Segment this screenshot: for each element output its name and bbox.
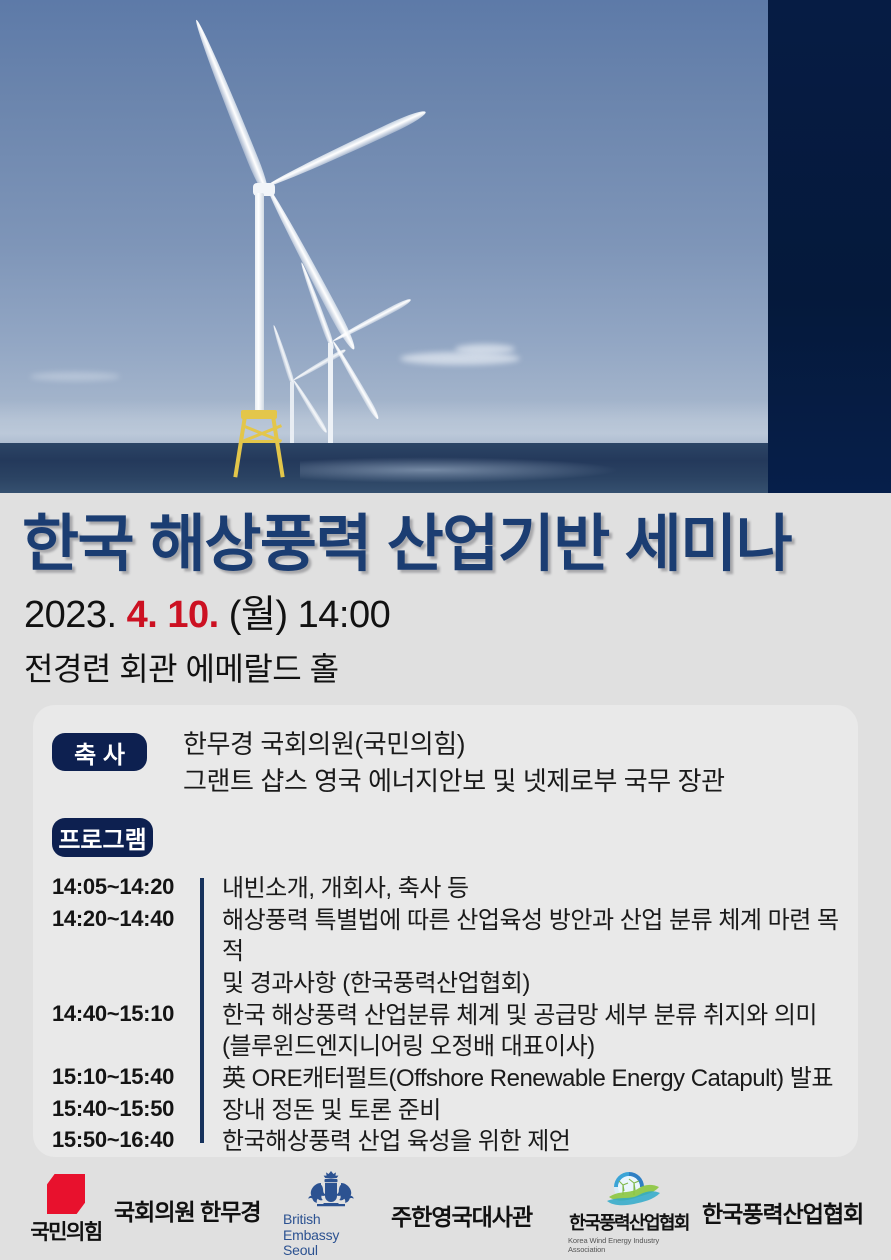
schedule-row: 15:10~15:40 英 ORE캐터펄트(Offshore Renewable… xyxy=(52,1063,852,1095)
greeting-list: 한무경 국회의원(국민의힘) 그랜트 샵스 영국 에너지안보 및 넷제로부 국무… xyxy=(183,726,863,800)
wind-turbine-main-icon xyxy=(255,18,525,458)
schedule-row: 14:40~15:10 한국 해상풍력 산업분류 체계 및 공급망 세부 분류 … xyxy=(52,1000,852,1063)
schedule-desc: 한국 해상풍력 산업분류 체계 및 공급망 세부 분류 취지와 의미 (블루윈드… xyxy=(222,1000,852,1063)
poster-root: 한국 해상풍력 산업기반 세미나 2023. 4. 10. (월) 14:00 … xyxy=(0,0,891,1260)
row-gutter xyxy=(200,873,222,905)
logo-label-kweia: 한국풍력산업협회 xyxy=(702,1195,863,1229)
kweia-logo-label-ko: 한국풍력산업협회 xyxy=(569,1209,689,1235)
schedule-desc-sub: (블루윈드엔지니어링 오정배 대표이사) xyxy=(222,1031,852,1063)
page-title: 한국 해상풍력 산업기반 세미나 xyxy=(0,493,891,577)
cloud-3 xyxy=(30,372,120,381)
row-gutter xyxy=(200,1126,222,1158)
logo-label-assembly-member: 국회의원 한무경 xyxy=(114,1193,261,1227)
program-schedule: 14:05~14:20 내빈소개, 개회사, 축사 등 14:20~14:40 … xyxy=(52,873,852,1158)
kweia-logo-label-en: Korea Wind Energy Industry Association xyxy=(568,1236,690,1254)
hero-photo xyxy=(0,0,891,493)
schedule-desc-main: 내빈소개, 개회사, 축사 등 xyxy=(222,875,469,902)
schedule-desc-main: 한국해상풍력 산업 육성을 위한 제언 xyxy=(222,1128,570,1155)
schedule-time: 15:10~15:40 xyxy=(52,1063,200,1092)
logo-group-kweia: 한국풍력산업협회 Korea Wind Energy Industry Asso… xyxy=(568,1170,863,1254)
logo-group-embassy: British Embassy Seoul 주한영국대사관 xyxy=(283,1170,532,1259)
embassy-logo-label: British Embassy Seoul xyxy=(283,1212,379,1259)
ppp-logo-label: 국민의힘 xyxy=(30,1216,101,1246)
row-gutter xyxy=(200,1095,222,1127)
program-badge: 프로그램 xyxy=(52,818,153,857)
title-block: 한국 해상풍력 산업기반 세미나 2023. 4. 10. (월) 14:00 … xyxy=(0,493,891,690)
schedule-desc: 해상풍력 특별법에 따른 산업육성 방안과 산업 분류 체계 마련 목적 및 경… xyxy=(222,905,852,1000)
schedule-desc-main: 해상풍력 특별법에 따른 산업육성 방안과 산업 분류 체계 마련 목적 xyxy=(222,907,839,966)
event-date-line: 2023. 4. 10. (월) 14:00 xyxy=(0,583,891,638)
offshore-wind-photo xyxy=(0,0,768,493)
sponsor-footer: 국민의힘 국회의원 한무경 xyxy=(0,1168,891,1260)
schedule-desc: 내빈소개, 개회사, 축사 등 xyxy=(222,873,852,905)
schedule-time: 14:40~15:10 xyxy=(52,1000,200,1029)
royal-crest-icon xyxy=(303,1170,359,1210)
greeting-line: 한무경 국회의원(국민의힘) xyxy=(183,726,863,763)
people-power-party-logo: 국민의힘 xyxy=(30,1174,102,1246)
logo-label-embassy: 주한영국대사관 xyxy=(391,1198,532,1232)
date-suffix: (월) 14:00 xyxy=(229,594,390,636)
schedule-desc: 英 ORE캐터펄트(Offshore Renewable Energy Cata… xyxy=(222,1063,852,1095)
kweia-emblem-icon xyxy=(598,1170,660,1208)
event-venue: 전경련 회관 에메랄드 홀 xyxy=(0,644,891,690)
row-gutter xyxy=(200,1063,222,1095)
date-highlight: 4. 10. xyxy=(127,594,219,636)
schedule-desc-sub: 및 경과사항 (한국풍력산업협회) xyxy=(222,968,852,1000)
embassy-logo-line-2: Seoul xyxy=(283,1243,379,1259)
schedule-row: 14:05~14:20 내빈소개, 개회사, 축사 등 xyxy=(52,873,852,905)
logo-group-ppp: 국민의힘 국회의원 한무경 xyxy=(30,1174,261,1246)
schedule-row: 14:20~14:40 해상풍력 특별법에 따른 산업육성 방안과 산업 분류 … xyxy=(52,905,852,1000)
schedule-desc: 장내 정돈 및 토론 준비 xyxy=(222,1095,852,1127)
schedule-desc: 한국해상풍력 산업 육성을 위한 제언 xyxy=(222,1126,852,1158)
schedule-row: 15:40~15:50 장내 정돈 및 토론 준비 xyxy=(52,1095,852,1127)
schedule-desc-main: 한국 해상풍력 산업분류 체계 및 공급망 세부 분류 취지와 의미 xyxy=(222,1002,817,1029)
schedule-desc-main: 장내 정돈 및 토론 준비 xyxy=(222,1097,441,1124)
schedule-time: 14:05~14:20 xyxy=(52,873,200,902)
greeting-badge: 축 사 xyxy=(52,733,147,771)
schedule-time: 14:20~14:40 xyxy=(52,905,200,934)
schedule-row: 15:50~16:40 한국해상풍력 산업 육성을 위한 제언 xyxy=(52,1126,852,1158)
row-gutter xyxy=(200,1000,222,1063)
hero-side-band xyxy=(768,0,891,493)
ppp-hexagon-icon xyxy=(47,1174,85,1214)
embassy-logo-line-1: British Embassy xyxy=(283,1212,379,1243)
kweia-logo: 한국풍력산업협회 Korea Wind Energy Industry Asso… xyxy=(568,1170,690,1254)
greeting-line: 그랜트 샵스 영국 에너지안보 및 넷제로부 국무 장관 xyxy=(183,763,863,800)
british-embassy-logo: British Embassy Seoul xyxy=(283,1170,379,1259)
row-gutter xyxy=(200,905,222,1000)
schedule-time: 15:50~16:40 xyxy=(52,1126,200,1155)
schedule-time: 15:40~15:50 xyxy=(52,1095,200,1124)
date-prefix: 2023. xyxy=(24,594,117,636)
schedule-desc-main: 英 ORE캐터펄트(Offshore Renewable Energy Cata… xyxy=(222,1065,833,1092)
